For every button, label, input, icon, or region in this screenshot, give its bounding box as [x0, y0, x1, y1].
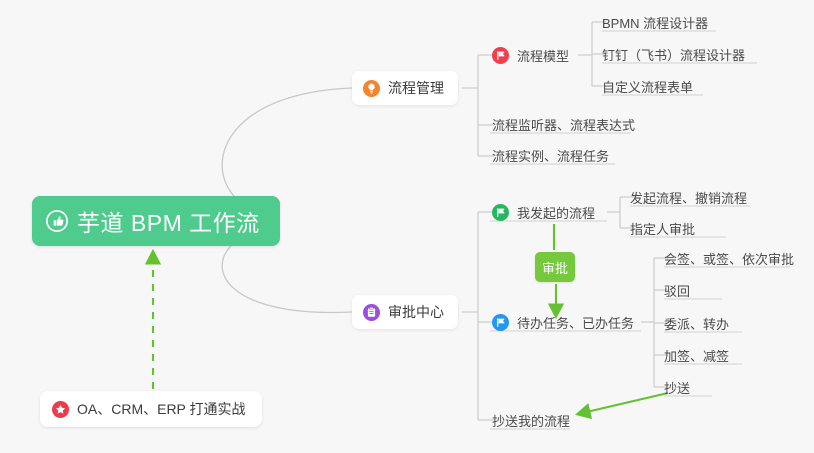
root-node[interactable]: 芋道 BPM 工作流 [32, 196, 280, 246]
node-multi-sign[interactable]: 会签、或签、依次审批 [664, 249, 794, 271]
lightbulb-icon [363, 80, 380, 97]
clipboard-icon [363, 304, 380, 321]
node-label: 委派、转办 [664, 314, 729, 333]
green-flag-icon [492, 204, 509, 221]
approval-tag-label: 审批 [542, 258, 568, 277]
node-label: 发起流程、撤销流程 [630, 188, 747, 207]
thumbs-up-icon [46, 210, 68, 232]
node-listener-expression[interactable]: 流程监听器、流程表达式 [492, 115, 635, 137]
root-label: 芋道 BPM 工作流 [77, 204, 260, 238]
node-my-initiated[interactable]: 我发起的流程 [492, 203, 595, 225]
node-label: 会签、或签、依次审批 [664, 249, 794, 268]
blue-flag-icon [492, 314, 509, 331]
star-icon [52, 401, 69, 418]
node-label: 驳回 [664, 281, 690, 300]
node-instance-task[interactable]: 流程实例、流程任务 [492, 146, 609, 168]
branch-label: 流程管理 [388, 78, 444, 98]
node-reject[interactable]: 驳回 [664, 281, 690, 303]
node-custom-process-form[interactable]: 自定义流程表单 [602, 77, 693, 99]
node-assignee-approval[interactable]: 指定人审批 [630, 219, 695, 241]
node-label: 流程监听器、流程表达式 [492, 115, 635, 134]
note-card-integration[interactable]: OA、CRM、ERP 打通实战 [40, 391, 262, 427]
red-flag-icon [492, 47, 509, 64]
node-todo-done-tasks[interactable]: 待办任务、已办任务 [492, 313, 634, 335]
branch-node-approval-center[interactable]: 审批中心 [352, 295, 458, 329]
node-bpmn-designer[interactable]: BPMN 流程设计器 [602, 13, 708, 35]
node-label: 钉钉（飞书）流程设计器 [602, 45, 745, 64]
node-label: 我发起的流程 [517, 203, 595, 222]
node-label: 待办任务、已办任务 [517, 313, 634, 332]
note-card-label: OA、CRM、ERP 打通实战 [77, 399, 246, 419]
node-cc[interactable]: 抄送 [664, 378, 690, 400]
node-delegate-transfer[interactable]: 委派、转办 [664, 314, 729, 336]
mindmap-canvas: 芋道 BPM 工作流 流程管理 流程模型 BPMN 流程设计器 钉钉（飞书）流程 [0, 0, 814, 453]
node-label: 流程模型 [517, 46, 569, 65]
node-cc-to-me[interactable]: 抄送我的流程 [492, 411, 570, 433]
node-label: 抄送 [664, 378, 690, 397]
node-label: 流程实例、流程任务 [492, 146, 609, 165]
node-label: 加签、减签 [664, 346, 729, 365]
node-start-cancel[interactable]: 发起流程、撤销流程 [630, 188, 747, 210]
branch-node-process-management[interactable]: 流程管理 [352, 71, 458, 105]
node-label: BPMN 流程设计器 [602, 13, 708, 32]
node-label: 抄送我的流程 [492, 411, 570, 430]
node-dingtalk-feishu-designer[interactable]: 钉钉（飞书）流程设计器 [602, 45, 745, 67]
node-label: 指定人审批 [630, 219, 695, 238]
node-process-model[interactable]: 流程模型 [492, 46, 569, 68]
branch-label: 审批中心 [388, 302, 444, 322]
node-add-remove-sign[interactable]: 加签、减签 [664, 346, 729, 368]
node-label: 自定义流程表单 [602, 77, 693, 96]
approval-tag: 审批 [535, 252, 575, 282]
